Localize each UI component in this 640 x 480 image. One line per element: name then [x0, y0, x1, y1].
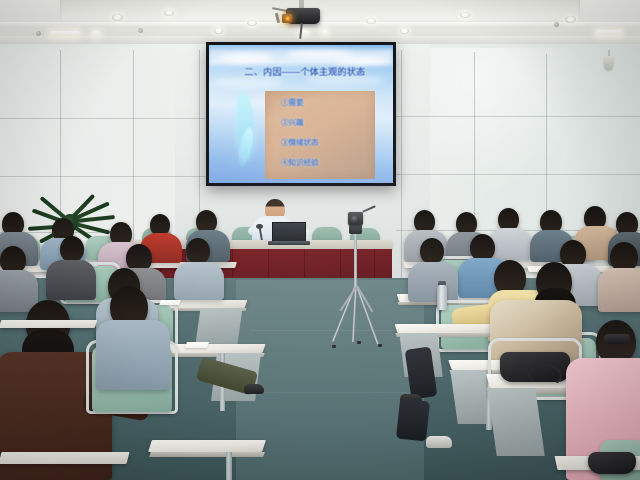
desk — [0, 452, 129, 464]
handout-paper — [159, 300, 181, 305]
wall-seam — [396, 174, 640, 175]
tripod-foot — [378, 344, 382, 347]
slide-title: 二、内因——个体主观的状态 — [219, 65, 391, 78]
audience-head — [60, 236, 84, 262]
downlight-icon — [460, 12, 470, 18]
lecture-hall-photo: 二、内因——个体主观的状态 ①需要 ②兴趣 ③情绪状态 ④知识经验 — [0, 0, 640, 480]
slide-bullet-item: ①需要 — [281, 97, 371, 108]
desk-edge — [149, 452, 265, 457]
ceiling-soffit — [0, 22, 640, 28]
wall-light-sheen — [430, 48, 580, 198]
audience-torso — [46, 260, 96, 300]
desk — [395, 324, 506, 333]
carpet-seam — [242, 392, 420, 393]
projection-screen: 二、内因——个体主观的状态 ①需要 ②兴趣 ③情绪状态 ④知识经验 — [209, 45, 393, 183]
downlight-icon — [366, 18, 376, 24]
audience-torso — [174, 262, 224, 300]
slide-bullet-item: ③情绪状态 — [281, 137, 371, 148]
wall-seam — [0, 118, 210, 119]
audience-torso — [408, 262, 458, 302]
downlight-icon — [400, 28, 409, 34]
slide-bullet-item: ④知识经验 — [281, 157, 371, 168]
laptop-base — [268, 241, 310, 245]
ceiling-light-strip — [322, 30, 328, 35]
downlight-icon — [164, 10, 174, 16]
audience-leg — [396, 399, 430, 442]
cloud-shape — [335, 57, 387, 65]
downlight-icon — [214, 28, 223, 34]
shoe — [426, 436, 452, 448]
projector-power-led — [285, 16, 290, 21]
ceiling-light-strip — [596, 30, 622, 35]
audience-head — [186, 238, 210, 264]
slide-bullet-list: ①需要 ②兴趣 ③情绪状态 ④知识经验 — [273, 97, 371, 177]
slide-bullet-item: ②兴趣 — [281, 117, 371, 128]
audience-head — [470, 234, 495, 261]
audience-torso — [598, 268, 640, 312]
wall-seam — [396, 116, 640, 117]
handout-paper — [185, 342, 209, 348]
wall-seam — [0, 176, 208, 177]
projection-screen-frame: 二、内因——个体主观的状态 ①需要 ②兴趣 ③情绪状态 ④知识经验 — [206, 42, 396, 186]
ceiling-recess — [60, 0, 580, 24]
cloud-shape — [219, 53, 273, 63]
sprinkler-icon — [138, 28, 143, 33]
tripod-head — [349, 224, 362, 234]
microphone-icon — [256, 224, 263, 229]
camera-lens-icon — [351, 215, 359, 223]
center-aisle — [236, 280, 424, 480]
desk — [148, 440, 266, 452]
desk-modesty-panel — [195, 308, 242, 344]
downlight-icon — [112, 14, 123, 21]
desk — [0, 320, 97, 328]
tripod-column — [354, 232, 357, 286]
wall-seam — [401, 50, 402, 280]
downlight-icon — [565, 16, 576, 23]
sprinkler-icon — [36, 31, 41, 36]
carpet-seam — [250, 330, 410, 331]
sprinkler-icon — [554, 22, 559, 27]
tripod-foot — [332, 345, 336, 348]
shoe — [244, 384, 264, 394]
ceiling-light-strip — [50, 31, 80, 36]
cloud-shape — [213, 77, 283, 88]
wall-speaker-icon — [604, 56, 613, 70]
desk-modesty-panel — [487, 388, 545, 456]
shoulder-bag-icon — [588, 452, 636, 474]
ceiling-light-strip — [92, 31, 100, 36]
desk-leg — [226, 452, 232, 480]
water-bottle-icon — [437, 285, 447, 310]
audience-head — [420, 238, 444, 264]
hair-clip — [604, 334, 630, 344]
audience-torso — [96, 320, 170, 390]
laptop-screen — [272, 222, 306, 242]
tripod-foot — [357, 341, 361, 344]
downlight-icon — [247, 20, 257, 26]
